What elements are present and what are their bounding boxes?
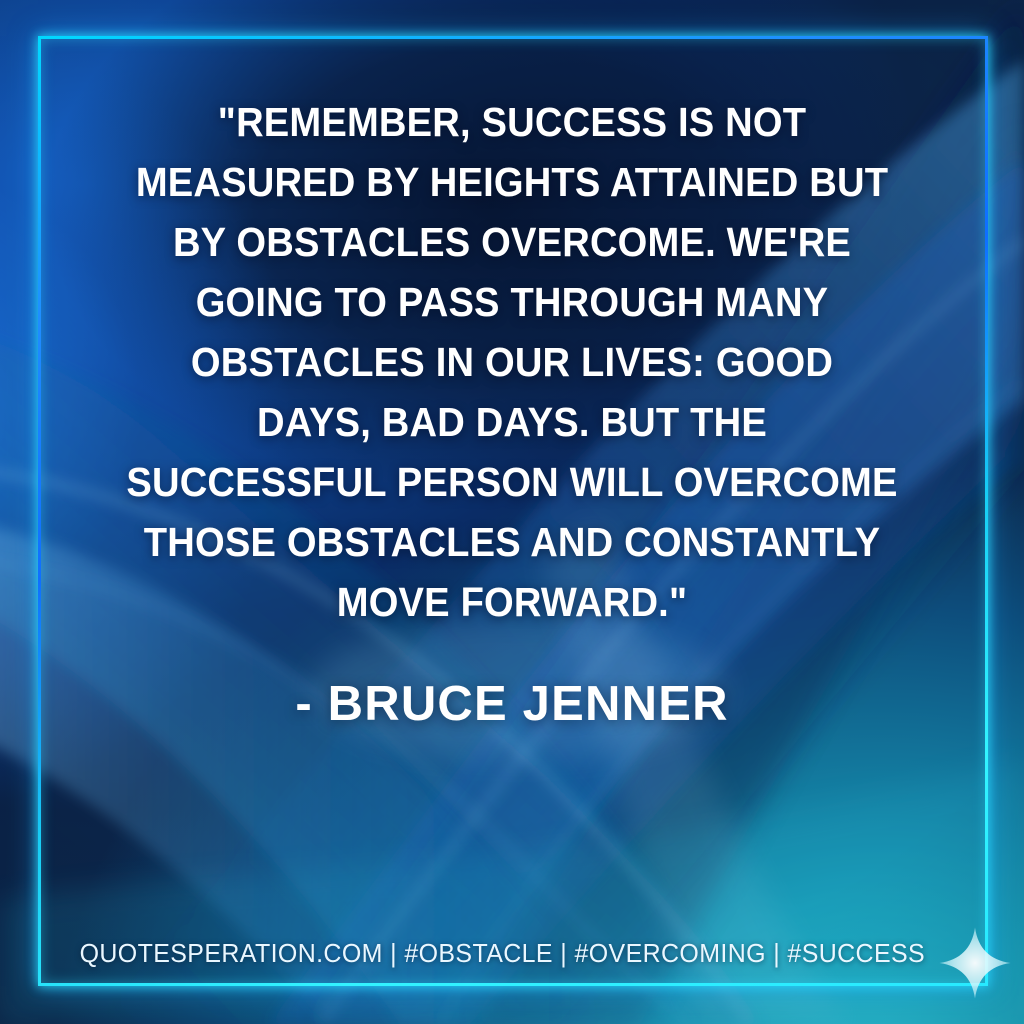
quote-attribution: - BRUCE JENNER: [62, 676, 962, 732]
footer-credit-line: QUOTESPERATION.COM | #OBSTACLE | #OVERCO…: [80, 938, 925, 969]
quote-line: SUCCESSFUL PERSON WILL OVERCOME: [94, 452, 931, 512]
quote-line: DAYS, BAD DAYS. BUT THE: [94, 392, 931, 452]
quote-line: GOING TO PASS THROUGH MANY: [94, 272, 931, 332]
quote-line: MEASURED BY HEIGHTS ATTAINED BUT: [94, 152, 931, 212]
quote-line: MOVE FORWARD.": [94, 572, 931, 632]
quote-poster: "REMEMBER, SUCCESS IS NOT MEASURED BY HE…: [0, 0, 1024, 1024]
quote-text-block: "REMEMBER, SUCCESS IS NOT MEASURED BY HE…: [62, 92, 962, 632]
quote-line: "REMEMBER, SUCCESS IS NOT: [94, 92, 931, 152]
quote-line: OBSTACLES IN OUR LIVES: GOOD: [94, 332, 931, 392]
poster-content: "REMEMBER, SUCCESS IS NOT MEASURED BY HE…: [0, 0, 1024, 1024]
four-point-star-icon: [938, 926, 1012, 1000]
quote-line: BY OBSTACLES OVERCOME. WE'RE: [94, 212, 931, 272]
quote-line: THOSE OBSTACLES AND CONSTANTLY: [94, 512, 931, 572]
